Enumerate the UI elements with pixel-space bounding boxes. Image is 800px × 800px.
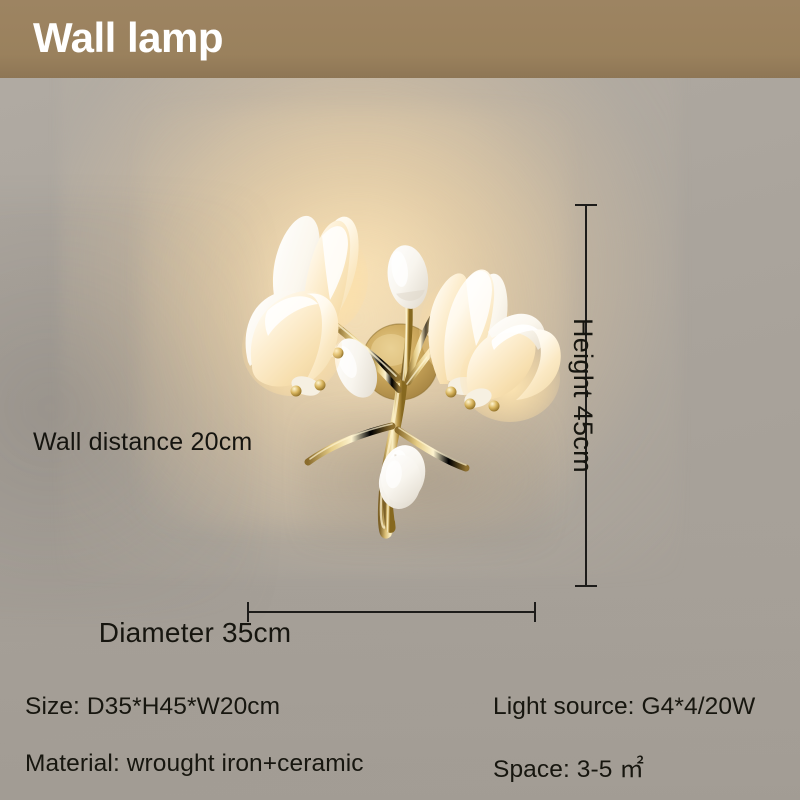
page-title: Wall lamp xyxy=(33,12,223,64)
diameter-dimension-label: Diameter 35cm xyxy=(99,617,291,648)
header-bar: Wall lamp xyxy=(0,0,800,78)
product-photo: Height 45cm Diameter 35cm Wall distance … xyxy=(0,78,800,800)
spec-list: Size: D35*H45*W20cm Light source: G4*4/2… xyxy=(0,693,800,800)
diameter-dimension-label-wrap: Diameter 35cm xyxy=(0,617,800,649)
diameter-dimension-stem xyxy=(247,611,535,613)
spec-material: Material: wrought iron+ceramic xyxy=(25,750,364,778)
ceramic-flower-bottom-left xyxy=(242,291,342,400)
wall-distance-label: Wall distance 20cm xyxy=(33,428,252,457)
spec-light-source: Light source: G4*4/20W xyxy=(493,693,755,721)
spec-row: Material: wrought iron+ceramic Space: 3-… xyxy=(0,750,800,800)
height-dimension-cap-bottom xyxy=(575,585,597,587)
product-spec-page: Wall lamp xyxy=(0,0,800,800)
spec-row: Size: D35*H45*W20cm Light source: G4*4/2… xyxy=(0,693,800,750)
spec-space: Space: 3-5 ㎡ xyxy=(493,750,644,785)
height-dimension-label: Height 45cm xyxy=(567,318,598,473)
ceramic-bud-top xyxy=(384,243,433,312)
spec-size: Size: D35*H45*W20cm xyxy=(25,693,280,721)
